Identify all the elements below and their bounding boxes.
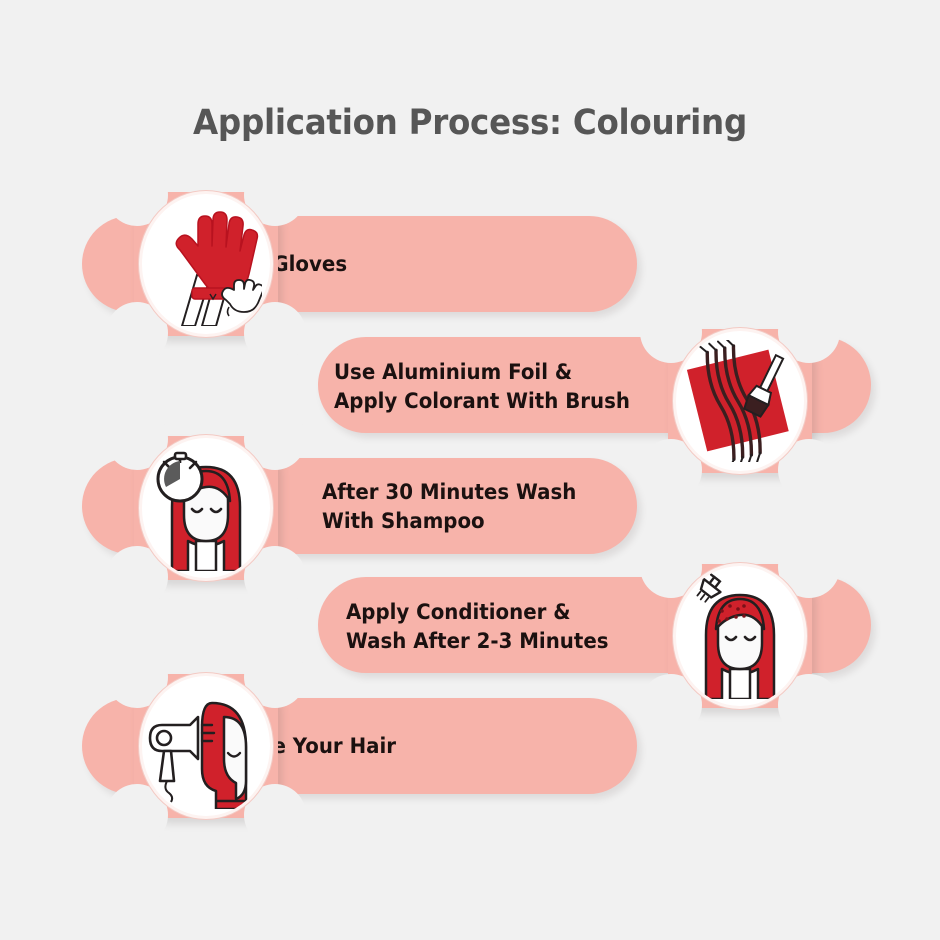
step-3-label: After 30 Minutes Wash With Shampoo <box>322 478 626 536</box>
shower-woman-icon <box>680 573 800 699</box>
step-2-icon-circle <box>673 328 807 474</box>
stopwatch-woman-icon <box>146 445 266 571</box>
gloved-hand-icon <box>150 202 262 326</box>
step-3-icon-circle <box>139 435 273 581</box>
step-2-label: Use Aluminium Foil & Apply Colorant With… <box>334 358 665 416</box>
hair-dryer-icon <box>144 683 268 809</box>
step-4-badge[interactable] <box>664 560 816 712</box>
step-5-badge[interactable] <box>130 670 282 822</box>
step-5-icon-circle <box>139 673 273 819</box>
step-1-badge[interactable] <box>130 188 282 340</box>
step-2-badge[interactable] <box>664 325 816 477</box>
page-title: Application Process: Colouring <box>33 103 907 143</box>
step-4-icon-circle <box>673 563 807 709</box>
step-3-badge[interactable] <box>130 432 282 584</box>
infographic-canvas: Application Process: Colouring Wear Glov… <box>0 0 940 940</box>
step-1-icon-circle <box>139 191 273 337</box>
step-4-label: Apply Conditioner & Wash After 2-3 Minut… <box>346 598 677 656</box>
foil-and-brush-icon <box>680 340 800 462</box>
